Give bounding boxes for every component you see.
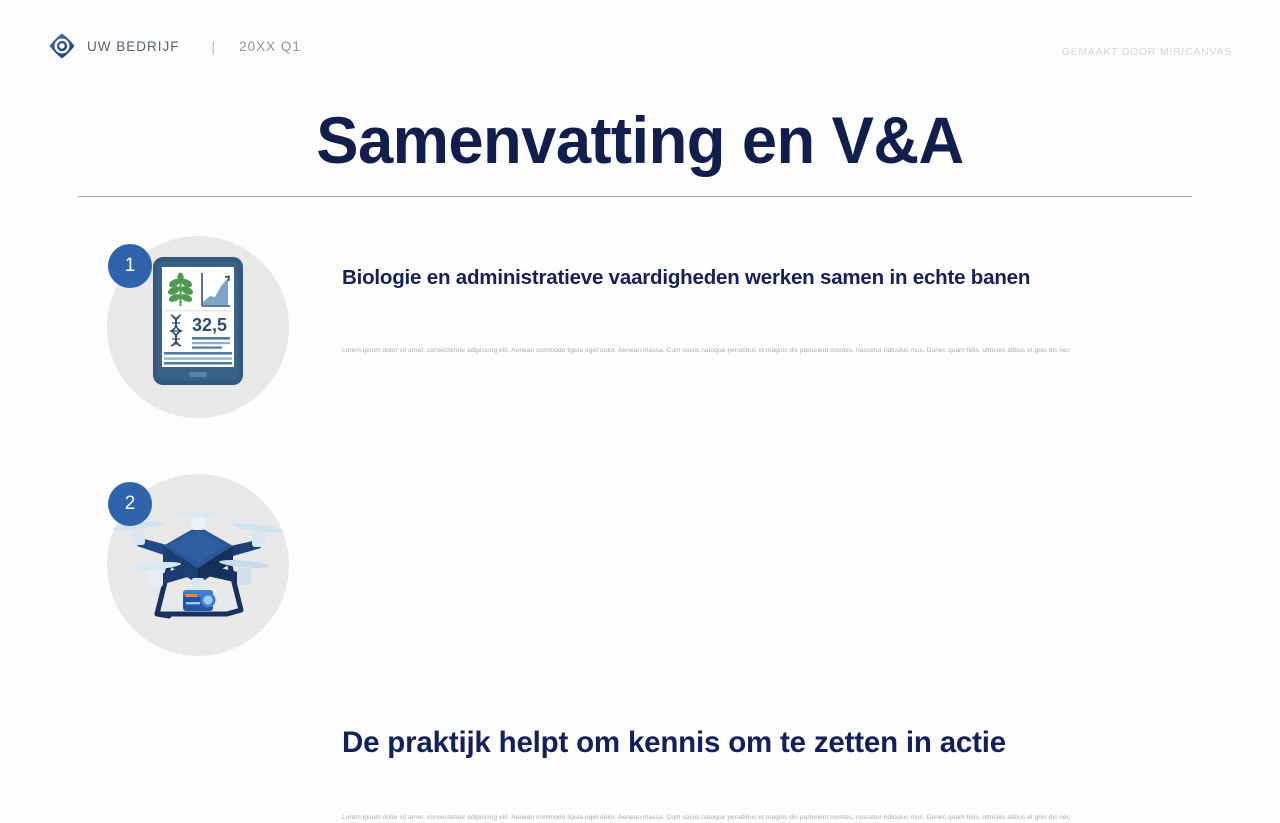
list-item: 32,5 1 Biologie en administratieve vaard… [0,232,1280,470]
credit-label: GEMAAKT DOOR MIRICANVAS [1062,46,1232,58]
slide-header: UW BEDRIJF | 20XX Q1 GEMAAKT DOOR MIRICA… [0,0,1280,92]
content-rows: 32,5 1 Biologie en administratieve vaard… [0,232,1280,708]
brand-block: UW BEDRIJF | 20XX Q1 [49,29,301,63]
item-copy: De praktijk helpt om kennis om te zetten… [342,470,1194,823]
item-heading: Biologie en administratieve vaardigheden… [342,232,1194,291]
brand-separator: | [212,38,216,54]
item-body: Lorem ipsum dolor sit amet, consectetuer… [342,761,1194,823]
item-media: 2 [107,474,289,656]
item-heading: De praktijk helpt om kennis om te zetten… [342,470,1194,761]
tablet-value-label: 32,5 [192,315,227,335]
page-title: Samenvatting en V&A [26,100,1255,180]
item-media: 32,5 1 [107,236,289,418]
brand-period: 20XX Q1 [239,39,301,54]
brand-name: UW BEDRIJF [87,39,180,54]
item-number-badge: 2 [108,482,152,526]
list-item: 2 De praktijk helpt om kennis om te zett… [0,470,1280,708]
item-body: Lorem ipsum dolor sit amet, consectetuer… [342,291,1194,356]
item-number-badge: 1 [108,244,152,288]
title-block: Samenvatting en V&A [0,100,1280,180]
title-divider [78,196,1192,197]
item-copy: Biologie en administratieve vaardigheden… [342,232,1194,356]
company-mark-icon [49,33,75,59]
